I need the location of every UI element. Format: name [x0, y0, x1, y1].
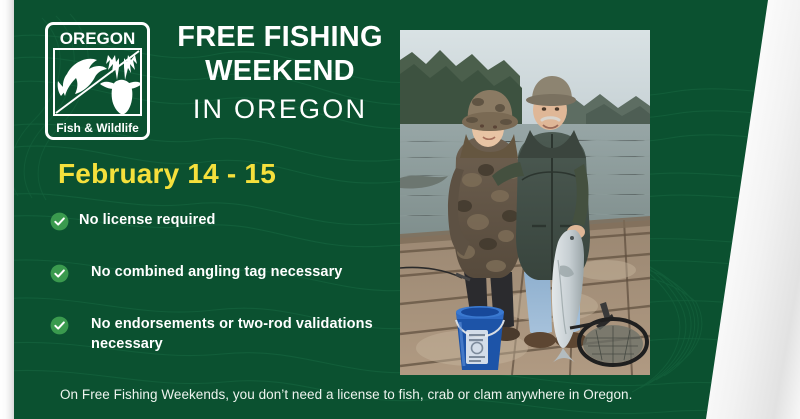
check-circle-icon: [50, 212, 69, 231]
blue-bucket: [456, 306, 504, 370]
logo-bottom-text: Fish & Wildlife: [56, 121, 139, 135]
list-item-label: No license required: [79, 211, 215, 231]
logo-top-text: OREGON: [60, 29, 136, 48]
headline-line-1: FREE FISHING: [155, 22, 405, 53]
salmon-icon: [58, 59, 107, 96]
event-date: February 14 - 15: [58, 158, 276, 190]
odfw-logo: OREGON Fish & Wildlife: [45, 22, 150, 140]
caption-text: On Free Fishing Weekends, you don’t need…: [60, 387, 632, 402]
benefits-list: No license required No combined angling …: [50, 207, 390, 354]
check-circle-icon: [50, 316, 69, 335]
anglers-holding-fish-on-dock-photo: [400, 30, 650, 375]
left-edge-shadow: [0, 0, 14, 419]
list-item: No license required: [50, 211, 390, 231]
list-item: No endorsements or two-rod validations n…: [50, 315, 390, 354]
list-item-label: No combined angling tag necessary: [91, 263, 342, 283]
list-item-label: No endorsements or two-rod validations n…: [91, 315, 390, 354]
free-fishing-weekend-poster: OREGON Fish & Wildlife: [0, 0, 800, 419]
headline-line-3: IN OREGON: [155, 92, 405, 127]
check-circle-icon: [50, 264, 69, 283]
headline: FREE FISHING WEEKEND IN OREGON: [155, 22, 405, 127]
headline-line-2: WEEKEND: [155, 53, 405, 89]
list-item: No combined angling tag necessary: [50, 263, 390, 283]
